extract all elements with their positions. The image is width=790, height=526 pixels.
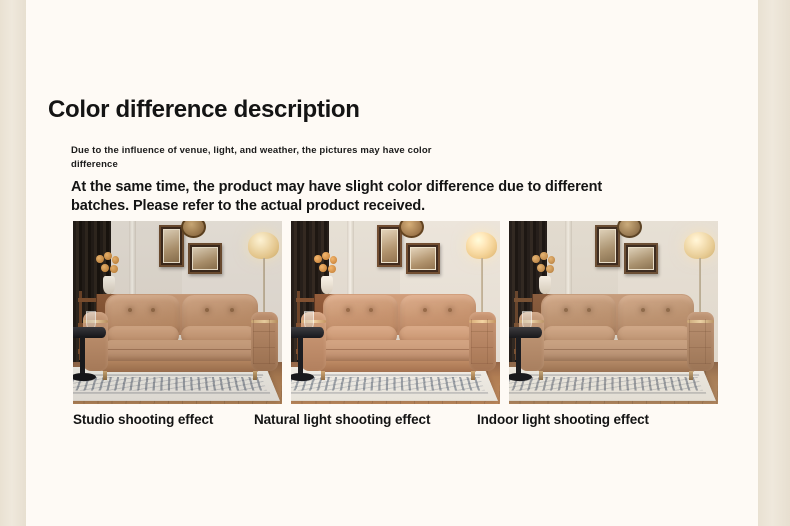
seat-cushion — [319, 340, 479, 364]
shooting-effect-gallery — [73, 221, 717, 404]
dried-flowers — [531, 252, 560, 279]
color-difference-note-small: Due to the influence of venue, light, an… — [71, 144, 461, 172]
round-wall-decor — [399, 221, 424, 238]
page-title: Color difference description — [48, 96, 360, 124]
gallery-image-studio[interactable] — [73, 221, 282, 404]
dried-flowers — [313, 252, 342, 279]
color-difference-note-large: At the same time, the product may have s… — [71, 178, 651, 216]
sofa-base — [536, 361, 698, 372]
brown-fabric-sofa — [519, 294, 711, 382]
side-table-top — [73, 327, 106, 338]
sofa-leg-right — [471, 371, 476, 380]
framed-picture-tall — [595, 225, 620, 267]
sofa-leg-left — [321, 371, 326, 380]
sofa-arm-right — [251, 312, 278, 372]
sofa-leg-right — [689, 371, 694, 380]
side-table-stem — [516, 336, 521, 376]
side-table-stem — [80, 336, 85, 376]
page-canvas: Color difference description Due to the … — [0, 0, 790, 526]
living-room-scene — [73, 221, 282, 404]
floor-lamp-shade — [684, 232, 715, 259]
round-wall-decor — [181, 221, 206, 238]
sofa-leg-left — [103, 371, 108, 380]
sofa-arm-right — [469, 312, 496, 372]
sofa-arm-right — [687, 312, 714, 372]
side-table-top — [509, 327, 542, 338]
caption-natural-light-shooting-effect: Natural light shooting effect — [254, 412, 430, 427]
sofa-base — [100, 361, 262, 372]
framed-picture-wide — [188, 243, 222, 274]
brown-fabric-sofa — [301, 294, 493, 382]
page-left-edge-strip — [0, 0, 26, 526]
sofa-base — [318, 361, 480, 372]
caption-studio-shooting-effect: Studio shooting effect — [73, 412, 213, 427]
living-room-scene — [291, 221, 500, 404]
framed-picture-wide — [406, 243, 440, 274]
sofa-leg-right — [253, 371, 258, 380]
floor-lamp-shade — [466, 232, 497, 259]
sofa-leg-left — [539, 371, 544, 380]
floor-lamp-shade — [248, 232, 279, 259]
side-table-stem — [298, 336, 303, 376]
gallery-image-indoor-light[interactable] — [509, 221, 718, 404]
framed-picture-wide — [624, 243, 658, 274]
living-room-scene — [509, 221, 718, 404]
caption-indoor-light-shooting-effect: Indoor light shooting effect — [477, 412, 649, 427]
seat-cushion — [537, 340, 697, 364]
dried-flowers — [95, 252, 124, 279]
framed-picture-tall — [159, 225, 184, 267]
round-wall-decor — [617, 221, 642, 238]
seat-cushion — [101, 340, 261, 364]
gallery-captions: Studio shooting effect Natural light sho… — [73, 412, 753, 436]
gallery-image-natural-light[interactable] — [291, 221, 500, 404]
brown-fabric-sofa — [83, 294, 275, 382]
page-right-edge-strip — [758, 0, 790, 526]
side-table-top — [291, 327, 324, 338]
framed-picture-tall — [377, 225, 402, 267]
